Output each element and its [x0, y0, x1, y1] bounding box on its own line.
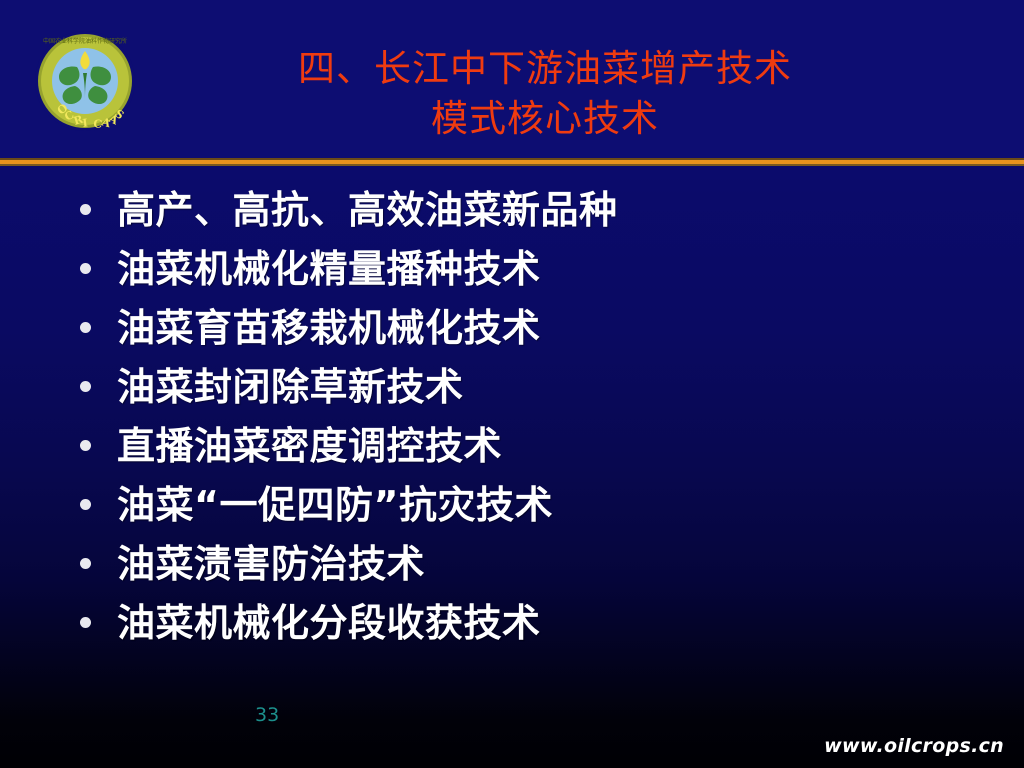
bullet-dot-icon — [80, 204, 91, 215]
bullet-dot-icon — [80, 322, 91, 333]
list-item: 直播油菜密度调控技术 — [70, 416, 950, 475]
list-item-label: 油菜育苗移栽机械化技术 — [117, 308, 950, 348]
list-item-label: 油菜封闭除草新技术 — [117, 367, 950, 407]
list-item: 油菜机械化精量播种技术 — [70, 239, 950, 298]
header-divider — [0, 158, 1024, 167]
svg-text:中国农业科学院油料作物研究所: 中国农业科学院油料作物研究所 — [43, 37, 127, 45]
list-item: 油菜封闭除草新技术 — [70, 357, 950, 416]
divider-bottom-line — [0, 164, 1024, 166]
list-item: 油菜渍害防治技术 — [70, 534, 950, 593]
ocri-caas-emblem-icon: 中国农业科学院油料作物研究所 O C R I C A A S — [33, 29, 137, 133]
bullet-dot-icon — [80, 381, 91, 392]
list-item-label: 油菜机械化分段收获技术 — [117, 603, 950, 643]
list-item-label: 高产、高抗、高效油菜新品种 — [117, 190, 950, 230]
bullet-dot-icon — [80, 499, 91, 510]
slide-title-line-1: 四、长江中下游油菜增产技术 — [150, 44, 940, 94]
list-item-label: 油菜渍害防治技术 — [117, 544, 950, 584]
list-item-label: 直播油菜密度调控技术 — [117, 426, 950, 466]
list-item-label: 油菜机械化精量播种技术 — [117, 249, 950, 289]
page-number: 33 — [255, 704, 279, 726]
presentation-slide: 中国农业科学院油料作物研究所 O C R I C A A S 四、 — [0, 0, 1024, 768]
list-item: 油菜机械化分段收获技术 — [70, 593, 950, 652]
bullet-dot-icon — [80, 617, 91, 628]
bullet-dot-icon — [80, 558, 91, 569]
list-item: 油菜育苗移栽机械化技术 — [70, 298, 950, 357]
slide-title: 四、长江中下游油菜增产技术 模式核心技术 — [150, 44, 940, 144]
bullet-dot-icon — [80, 440, 91, 451]
list-item: 油菜“一促四防”抗灾技术 — [70, 475, 950, 534]
list-item: 高产、高抗、高效油菜新品种 — [70, 180, 950, 239]
bullet-list: 高产、高抗、高效油菜新品种 油菜机械化精量播种技术 油菜育苗移栽机械化技术 油菜… — [70, 180, 950, 652]
bullet-dot-icon — [80, 263, 91, 274]
site-url-label: www.oilcrops.cn — [824, 735, 1004, 757]
slide-title-line-2: 模式核心技术 — [150, 94, 940, 144]
list-item-label: 油菜“一促四防”抗灾技术 — [117, 485, 950, 525]
